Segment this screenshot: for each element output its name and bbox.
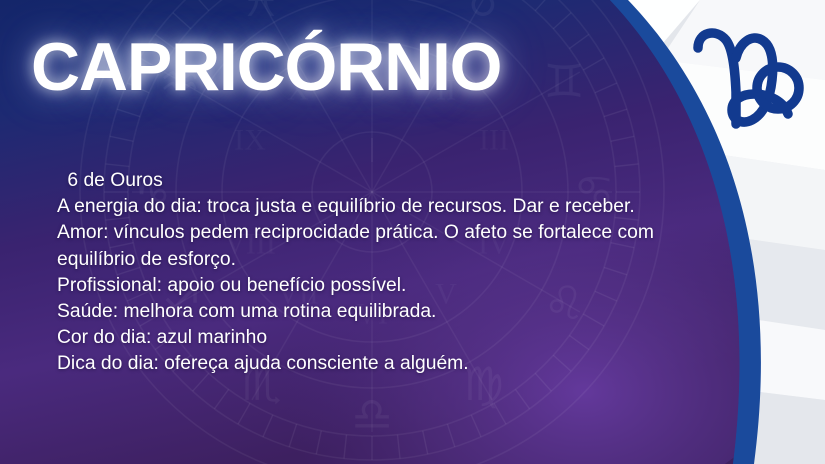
reading-line: equilíbrio de esforço. xyxy=(57,247,657,273)
reading-line: A energia do dia: troca justa e equilíbr… xyxy=(57,194,657,220)
reading-line: Dica do dia: ofereça ajuda consciente a … xyxy=(57,351,657,377)
capricorn-glyph-icon xyxy=(686,18,810,140)
reading-line: Cor do dia: azul marinho xyxy=(57,325,657,351)
horoscope-text: 6 de Ouros A energia do dia: troca justa… xyxy=(57,168,657,378)
reading-line: Profissional: apoio ou benefício possíve… xyxy=(57,273,657,299)
reading-line: 6 de Ouros xyxy=(57,168,657,194)
reading-line: Amor: vínculos pedem reciprocidade práti… xyxy=(57,220,657,246)
reading-line: Saúde: melhora com uma rotina equilibrad… xyxy=(57,299,657,325)
horoscope-card: ♈ ♉ ♊ ♋ ♌ ♍ ♎ ♏ ♐ ♑ ♒ ♓ I II III IV V VI xyxy=(0,0,825,464)
page-title: CAPRICÓRNIO xyxy=(31,28,501,106)
